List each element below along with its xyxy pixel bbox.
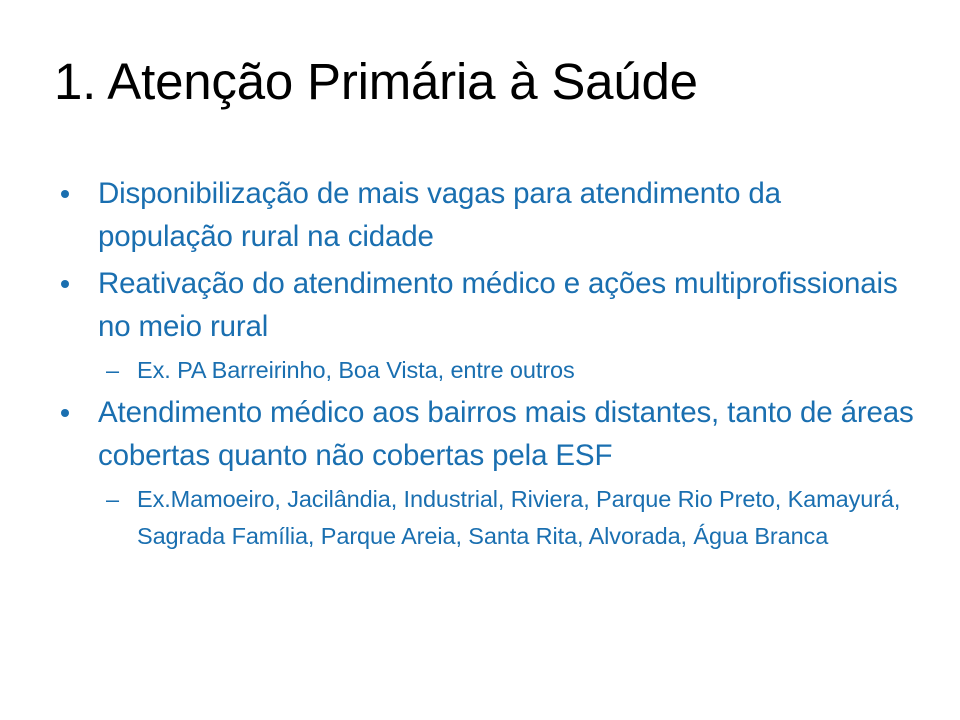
bullet-item-level2: – Ex. PA Barreirinho, Boa Vista, entre o… (54, 352, 920, 389)
bullet-item-level1: Disponibilização de mais vagas para aten… (54, 172, 920, 258)
bullet-text: Atendimento médico aos bairros mais dist… (98, 391, 920, 477)
slide-title: 1. Atenção Primária à Saúde (54, 52, 914, 112)
bullet-text: Reativação do atendimento médico e ações… (98, 262, 920, 348)
en-dash-icon: – (106, 352, 128, 389)
presentation-slide: 1. Atenção Primária à Saúde Disponibiliz… (0, 0, 960, 720)
bullet-dot-icon (61, 409, 69, 417)
bullet-item-level1: Atendimento médico aos bairros mais dist… (54, 391, 920, 477)
bullet-item-level1: Reativação do atendimento médico e ações… (54, 262, 920, 348)
en-dash-icon: – (106, 481, 128, 518)
bullet-text: Ex.Mamoeiro, Jacilândia, Industrial, Riv… (137, 481, 920, 555)
bullet-dot-icon (61, 280, 69, 288)
slide-body-content: Disponibilização de mais vagas para aten… (54, 172, 920, 557)
bullet-text: Disponibilização de mais vagas para aten… (98, 172, 920, 258)
bullet-text: Ex. PA Barreirinho, Boa Vista, entre out… (137, 352, 920, 389)
bullet-item-level2: – Ex.Mamoeiro, Jacilândia, Industrial, R… (54, 481, 920, 555)
bullet-dot-icon (61, 190, 69, 198)
